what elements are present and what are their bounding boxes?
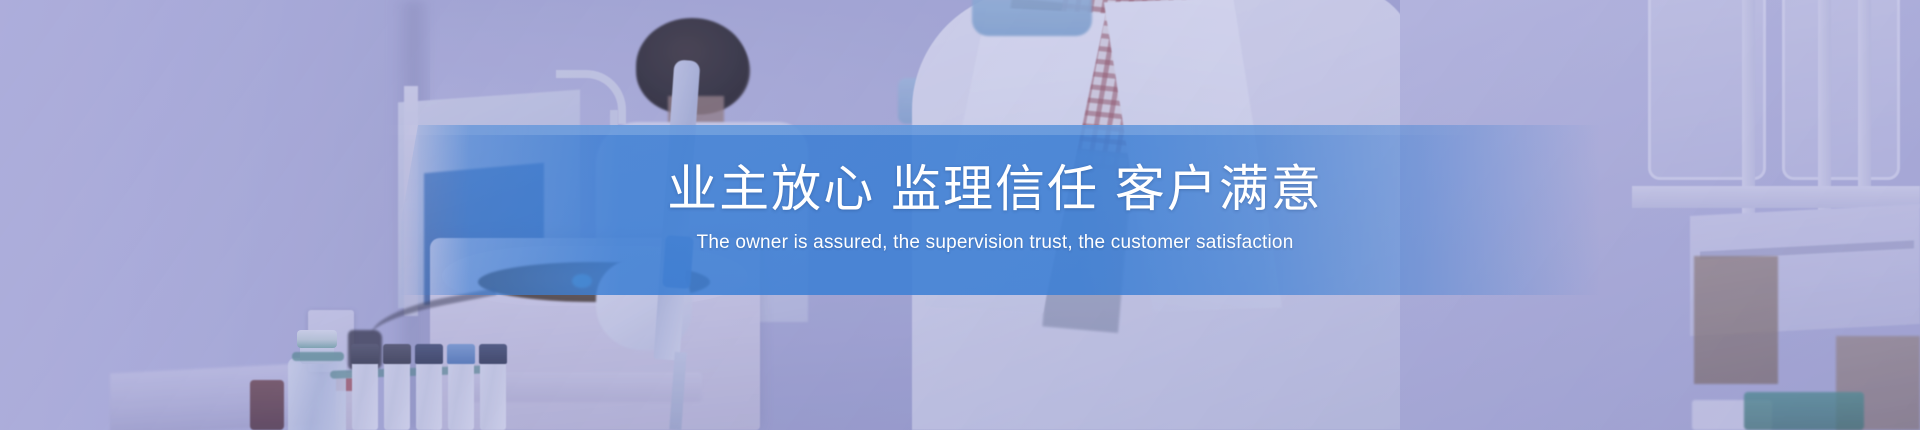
banner-overlay-fill — [0, 125, 1920, 295]
slogan-banner: 业主放心 监理信任 客户满意 The owner is assured, the… — [0, 125, 1920, 295]
banner-top-highlight — [0, 125, 1920, 135]
banner-hero: 业主放心 监理信任 客户满意 The owner is assured, the… — [0, 0, 1920, 430]
